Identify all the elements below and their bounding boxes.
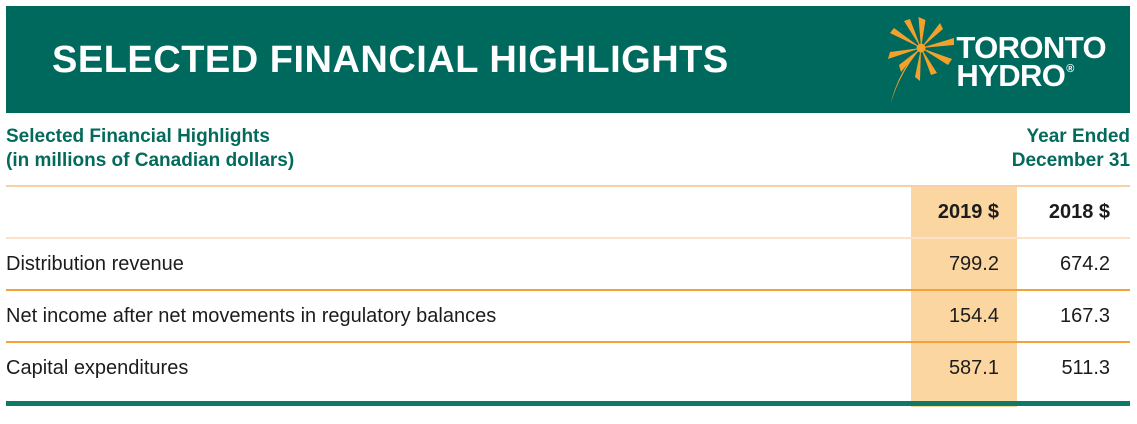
table-row: Distribution revenue 799.2 674.2 <box>6 238 1130 290</box>
starburst-icon <box>874 15 958 105</box>
logo-wordmark: TORONTO HYDRO ® <box>956 34 1106 89</box>
row-value-2019: 799.2 <box>911 238 1017 290</box>
row-value-2018: 674.2 <box>1017 238 1130 290</box>
table-period-label: Year Ended December 31 <box>911 113 1130 186</box>
logo-word-hydro: HYDRO <box>956 62 1065 89</box>
financial-highlights-table: Selected Financial Highlights (in millio… <box>6 113 1130 393</box>
registered-trademark-icon: ® <box>1066 64 1074 75</box>
table-caption-line-1: Selected Financial Highlights <box>6 125 911 149</box>
table-row: Net income after net movements in regula… <box>6 290 1130 342</box>
financial-table-container: Selected Financial Highlights (in millio… <box>6 113 1130 413</box>
row-value-2019: 154.4 <box>911 290 1017 342</box>
selected-financial-highlights-page: SELECTED FINANCIAL HIGHLIGHTS <box>0 0 1137 424</box>
toronto-hydro-logo: TORONTO HYDRO ® <box>874 15 1106 105</box>
table-caption: Selected Financial Highlights (in millio… <box>6 113 911 186</box>
row-label: Distribution revenue <box>6 238 911 290</box>
table-period-line-1: Year Ended <box>911 125 1130 149</box>
logo-word-hydro-line: HYDRO ® <box>956 62 1106 89</box>
table-header-row: 2019 $ 2018 $ <box>6 186 1130 238</box>
row-value-2019: 587.1 <box>911 342 1017 393</box>
table-caption-line-2: (in millions of Canadian dollars) <box>6 149 911 173</box>
page-header-band: SELECTED FINANCIAL HIGHLIGHTS <box>6 6 1130 113</box>
table-period-line-2: December 31 <box>911 149 1130 173</box>
table-caption-row: Selected Financial Highlights (in millio… <box>6 113 1130 186</box>
column-header-label <box>6 186 911 238</box>
row-value-2018: 511.3 <box>1017 342 1130 393</box>
footer-rule <box>6 401 1130 406</box>
row-label: Net income after net movements in regula… <box>6 290 911 342</box>
row-label: Capital expenditures <box>6 342 911 393</box>
column-header-2019: 2019 $ <box>911 186 1017 238</box>
page-title: SELECTED FINANCIAL HIGHLIGHTS <box>52 41 729 79</box>
column-header-2018: 2018 $ <box>1017 186 1130 238</box>
table-row: Capital expenditures 587.1 511.3 <box>6 342 1130 393</box>
row-value-2018: 167.3 <box>1017 290 1130 342</box>
